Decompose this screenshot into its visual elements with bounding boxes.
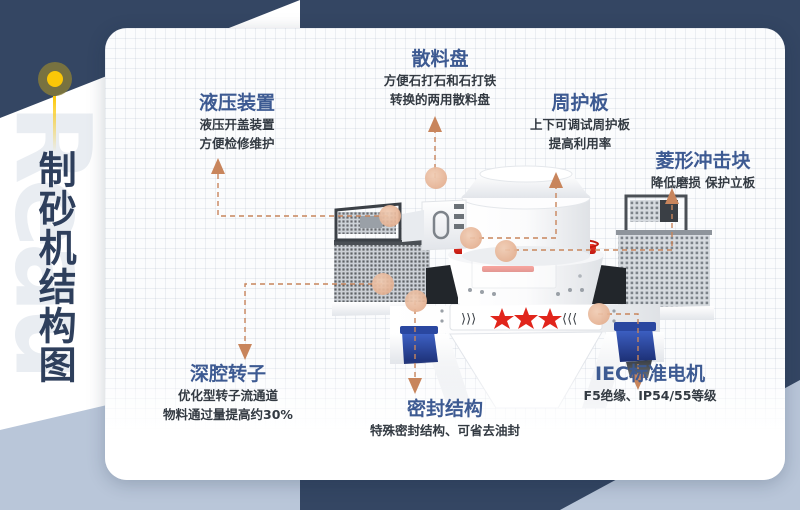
- hotspot-deep-cavity-rotor[interactable]: [372, 273, 394, 295]
- callout-iec-motor-heading: IEC标准电机: [540, 363, 760, 387]
- callout-hydraulic-line-1: 液压开盖装置: [142, 116, 332, 135]
- callout-peripheral-guard-line-1: 上下可调试周护板: [490, 116, 670, 135]
- callout-feed-tray-line-1: 方便石打石和石打铁: [330, 72, 550, 91]
- callout-seal-structure-line-1: 特殊密封结构、可省去油封: [330, 422, 560, 441]
- callout-deep-cavity-rotor-line-1: 优化型转子流通道: [118, 387, 338, 406]
- callout-hydraulic-line-2: 方便检修维护: [142, 135, 332, 154]
- page-title: 制砂机结构图: [34, 150, 73, 384]
- callout-peripheral-guard: 周护板 上下可调试周护板 提高利用率: [490, 92, 670, 153]
- callout-hydraulic: 液压装置 液压开盖装置 方便检修维护: [142, 92, 332, 153]
- callout-seal-structure-heading: 密封结构: [330, 398, 560, 422]
- callout-impact-block-heading: 菱形冲击块: [608, 150, 798, 174]
- hotspot-impact-block[interactable]: [495, 240, 517, 262]
- hotspot-feed-tray[interactable]: [425, 167, 447, 189]
- upper-hopper: [462, 166, 590, 266]
- pin-dot: [47, 71, 63, 87]
- callout-impact-block: 菱形冲击块 降低磨损 保护立板: [608, 150, 798, 193]
- hotspot-iec-motor[interactable]: [588, 303, 610, 325]
- hotspot-seal-structure[interactable]: [405, 290, 427, 312]
- callout-deep-cavity-rotor-line-2: 物料通过量提高约30%: [118, 406, 338, 425]
- callout-impact-block-line-1: 降低磨损 保护立板: [608, 174, 798, 193]
- callout-seal-structure: 密封结构 特殊密封结构、可省去油封: [330, 398, 560, 441]
- svg-text:⟨⟨⟨: ⟨⟨⟨: [562, 312, 577, 327]
- callout-peripheral-guard-heading: 周护板: [490, 92, 670, 116]
- callout-feed-tray-heading: 散料盘: [330, 48, 550, 72]
- hotspot-peripheral-guard[interactable]: [460, 227, 482, 249]
- callout-deep-cavity-rotor: 深腔转子 优化型转子流通道 物料通过量提高约30%: [118, 363, 338, 424]
- screenshot-root: Reau 制砂机结构图: [0, 0, 800, 510]
- motor-blue-left: [400, 326, 438, 364]
- pin-stem: [53, 96, 56, 152]
- callout-deep-cavity-rotor-heading: 深腔转子: [118, 363, 338, 387]
- callout-iec-motor: IEC标准电机 F5绝缘、IP54/55等级: [540, 363, 760, 406]
- svg-text:⟩⟩⟩: ⟩⟩⟩: [461, 312, 476, 327]
- callout-hydraulic-heading: 液压装置: [142, 92, 332, 116]
- pin-marker-icon: [38, 62, 72, 96]
- right-platform: [612, 196, 714, 320]
- hotspot-hydraulic[interactable]: [379, 205, 401, 227]
- callout-iec-motor-line-1: F5绝缘、IP54/55等级: [540, 387, 760, 406]
